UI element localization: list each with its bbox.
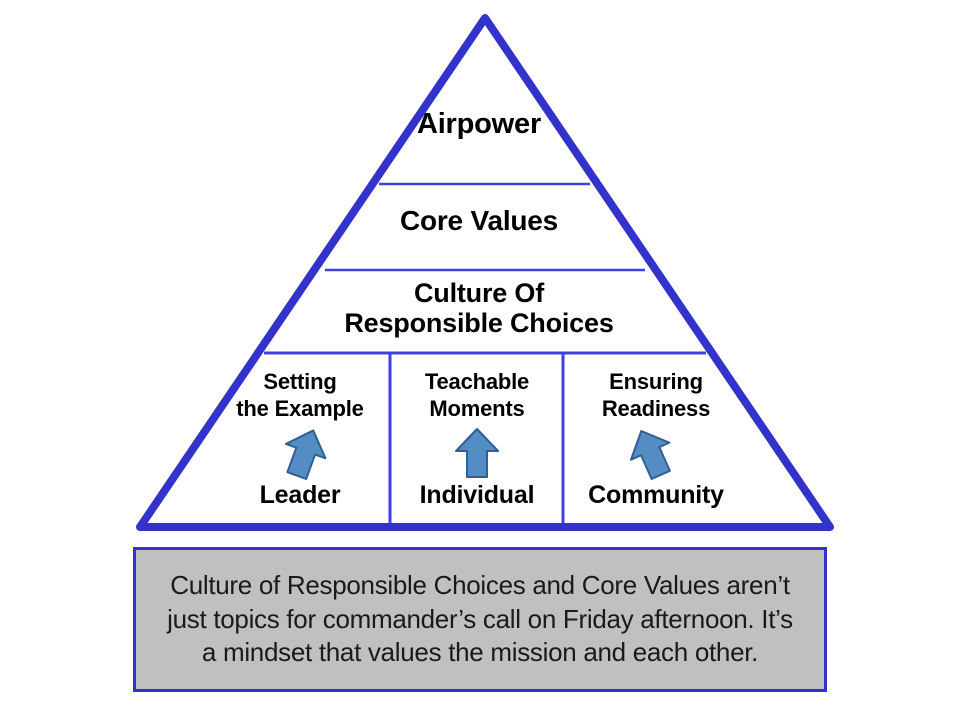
tier-label-core-values: Core Values (329, 205, 629, 236)
tier-label-culture: Culture Of Responsible Choices (289, 278, 669, 338)
pillar-community-name: Community (566, 481, 746, 510)
up-arrow-icon (619, 420, 682, 486)
up-arrow-icon (274, 420, 335, 485)
up-arrow-icon (454, 427, 500, 479)
pillar-leader-title: Setting the Example (212, 369, 388, 423)
pillar-leader-arrow-wrap (212, 427, 388, 479)
pillar-individual: Teachable Moments Individual (392, 355, 562, 527)
slide-canvas: Airpower Core Values Culture Of Responsi… (0, 0, 958, 718)
pillar-leader-name: Leader (212, 481, 388, 510)
pillar-individual-name: Individual (392, 481, 562, 510)
pillar-community-arrow-wrap (566, 427, 746, 479)
caption-text: Culture of Responsible Choices and Core … (136, 569, 824, 670)
pillar-individual-title: Teachable Moments (392, 369, 562, 423)
pillar-community-title: Ensuring Readiness (566, 369, 746, 423)
pillar-leader: Setting the Example Leader (212, 355, 388, 527)
pillar-community: Ensuring Readiness Community (566, 355, 746, 527)
caption-box: Culture of Responsible Choices and Core … (133, 547, 827, 692)
pillar-individual-arrow-wrap (392, 427, 562, 479)
tier-label-airpower: Airpower (329, 108, 629, 140)
